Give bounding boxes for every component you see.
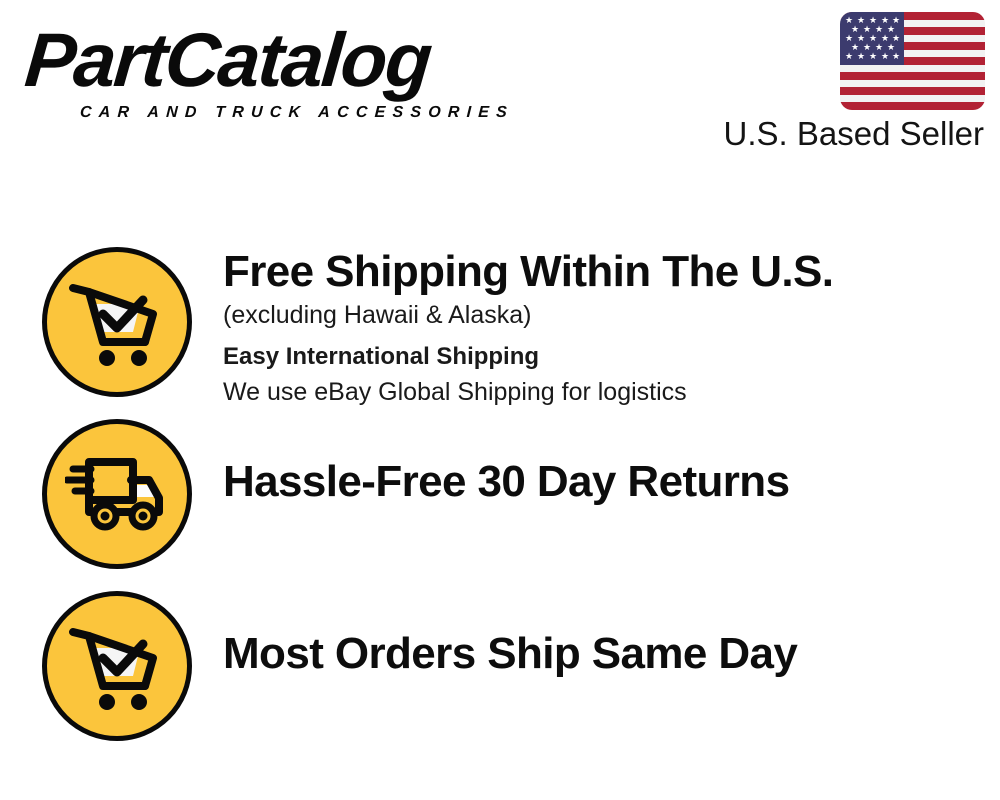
brand-logo[interactable]: PartCatalog CAR AND TRUCK ACCESSORIES — [22, 22, 492, 117]
shopping-cart-check-icon — [42, 247, 192, 397]
flag-stripe — [840, 102, 985, 110]
feature-row: Most Orders Ship Same Day — [0, 591, 1000, 761]
feature-heading: Most Orders Ship Same Day — [223, 629, 983, 679]
feature-subtext: We use eBay Global Shipping for logistic… — [223, 374, 983, 410]
shopping-cart-check-icon — [42, 591, 192, 741]
flag-stripe — [840, 65, 985, 73]
us-based-seller-label: U.S. Based Seller — [724, 115, 984, 153]
feature-row: Free Shipping Within The U.S. (excluding… — [0, 247, 1000, 417]
delivery-truck-icon — [42, 419, 192, 569]
feature-row: Hassle-Free 30 Day Returns — [0, 419, 1000, 589]
flag-stripe — [840, 87, 985, 95]
feature-text-block: Most Orders Ship Same Day — [223, 629, 983, 679]
flag-stripe — [840, 95, 985, 103]
flag-stripe — [840, 72, 985, 80]
feature-subtext: (excluding Hawaii & Alaska) — [223, 297, 983, 333]
feature-subtext-bold: Easy International Shipping — [223, 340, 983, 374]
page-header: PartCatalog CAR AND TRUCK ACCESSORIES ★ … — [0, 0, 1000, 165]
flag-canton: ★ ★ ★ ★ ★ ★ ★ ★ ★ ★ ★ ★ ★ ★ ★ ★ ★ ★ ★ ★ … — [840, 12, 904, 65]
feature-text-block: Free Shipping Within The U.S. (excluding… — [223, 247, 983, 410]
brand-wordmark: PartCatalog — [22, 22, 433, 100]
flag-stripe — [840, 80, 985, 88]
feature-heading: Free Shipping Within The U.S. — [223, 247, 983, 297]
brand-tagline: CAR AND TRUCK ACCESSORIES — [80, 104, 515, 122]
feature-text-block: Hassle-Free 30 Day Returns — [223, 457, 983, 507]
us-flag-icon: ★ ★ ★ ★ ★ ★ ★ ★ ★ ★ ★ ★ ★ ★ ★ ★ ★ ★ ★ ★ … — [840, 12, 985, 110]
feature-heading: Hassle-Free 30 Day Returns — [223, 457, 983, 507]
